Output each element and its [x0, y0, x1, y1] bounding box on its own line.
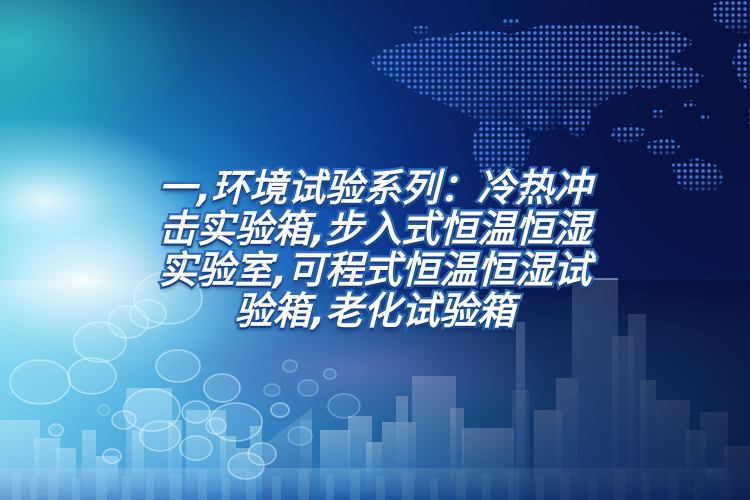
promo-banner: 一,环境试验系列：冷热冲 击实验箱,步入式恒温恒湿 实验室,可程式恒温恒湿试 验… — [0, 0, 750, 500]
headline-line-4: 验箱,老化试验箱 — [8, 291, 742, 332]
headline-line-2: 击实验箱,步入式恒温恒湿 — [8, 209, 742, 250]
headline-line-1: 一,环境试验系列：冷热冲 — [8, 168, 742, 209]
headline-block: 一,环境试验系列：冷热冲 击实验箱,步入式恒温恒湿 实验室,可程式恒温恒湿试 验… — [0, 168, 750, 332]
headline-line-3: 实验室,可程式恒温恒湿试 — [8, 250, 742, 291]
